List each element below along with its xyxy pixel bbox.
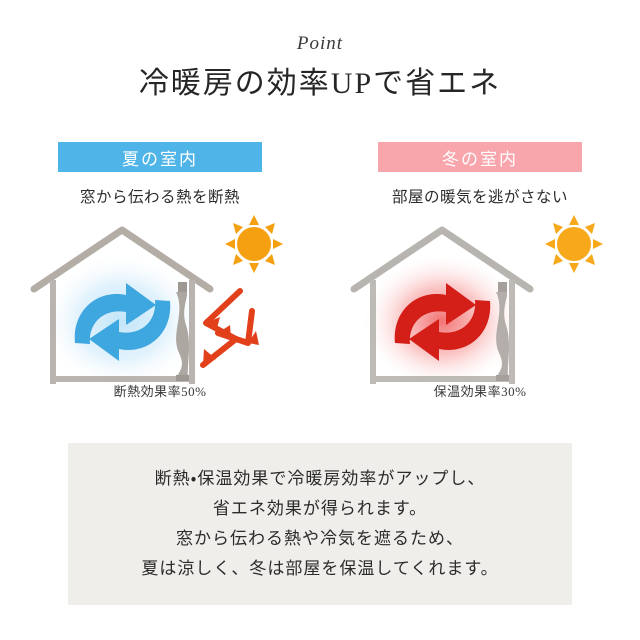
sun-icon [545,215,603,273]
panel-summer: 夏の室内 窓から伝わる熱を断熱 [0,142,320,432]
summary-note-block: 断熱・保温効果で冷暖房効率がアップし、 省エネ効果が得られます。 窓から伝わる熱… [68,443,572,605]
winter-house-illustration [320,213,640,398]
illustration-summer: 断熱効果率50% [0,213,320,398]
interior-glow-icon [364,255,520,387]
interior-glow-icon [44,255,200,387]
panel-subtitle-winter: 部屋の暖気を逃がさない [320,185,640,207]
panel-winter: 冬の室内 部屋の暖気を逃がさない [320,142,640,432]
note-line: 断熱・保温効果で冷暖房効率がアップし、 [155,464,486,494]
caption-summer: 断熱効果率50% [0,381,320,400]
page-title: 冷暖房の効率UPで省エネ [0,58,640,102]
sun-icon [225,215,283,273]
illustration-winter: 保温効果率30% [320,213,640,398]
banner-winter: 冬の室内 [378,142,582,172]
panel-row: 夏の室内 窓から伝わる熱を断熱 [0,142,640,432]
banner-summer: 夏の室内 [58,142,262,172]
note-line: 夏は涼しく、冬は部屋を保温してくれます。 [141,554,498,584]
caption-winter: 保温効果率30% [320,381,640,400]
eyebrow-label: Point [0,33,640,55]
note-line: 省エネ効果が得られます。 [213,494,427,524]
infographic-page: Point 冷暖房の効率UPで省エネ 夏の室内 窓から伝わる熱を断熱 [0,0,640,640]
summer-house-illustration [0,213,320,398]
note-line: 窓から伝わる熱や冷気を遮るため、 [176,524,464,554]
panel-subtitle-summer: 窓から伝わる熱を断熱 [0,185,320,207]
